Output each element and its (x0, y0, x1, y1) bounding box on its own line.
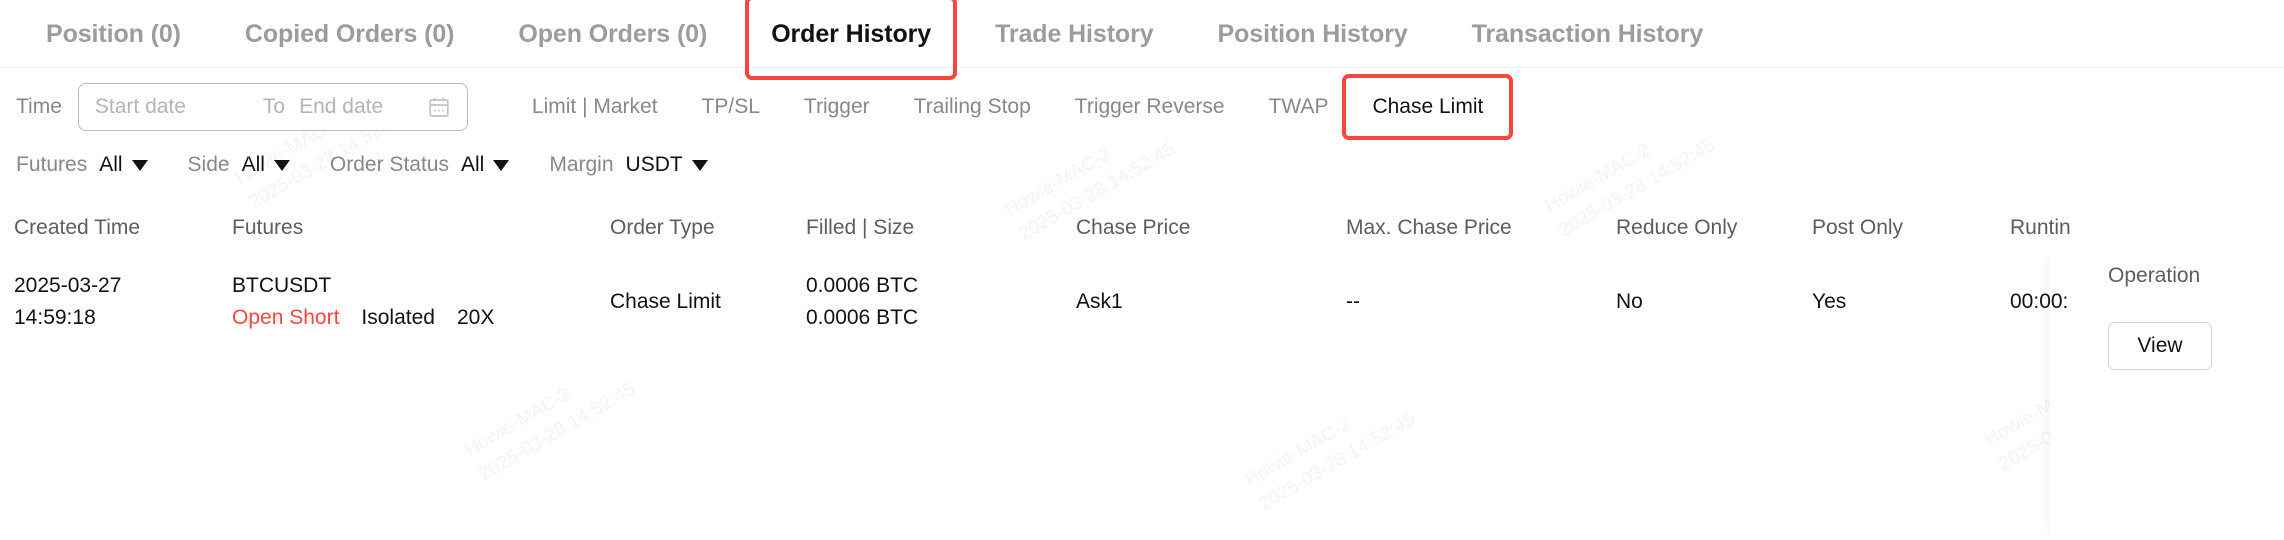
margin-filter-value: USDT (626, 153, 683, 177)
order-status-filter: Order Status All (330, 153, 537, 177)
tab-copied-orders[interactable]: Copied Orders (0) (213, 0, 486, 68)
order-history-table-wrap: Created Time Futures Order Type Filled |… (0, 202, 2284, 348)
column-header-filled-size: Filled | Size (806, 202, 1076, 256)
order-type-trigger[interactable]: Trigger (782, 83, 892, 131)
order-status-filter-select[interactable]: All (461, 153, 509, 177)
order-status-filter-label: Order Status (330, 153, 449, 177)
side-filter-label: Side (188, 153, 230, 177)
time-filter-label: Time (16, 95, 62, 119)
chevron-down-icon (132, 160, 148, 171)
order-tabs: Position (0) Copied Orders (0) Open Orde… (0, 0, 2284, 68)
futures-filter-select[interactable]: All (99, 153, 147, 177)
order-type-trigger-reverse[interactable]: Trigger Reverse (1053, 83, 1247, 131)
calendar-icon (427, 95, 451, 119)
cell-futures: BTCUSDT Open Short Isolated 20X (232, 256, 610, 348)
watermark-line-2: 2025-03-28 14:52:45 (475, 378, 638, 484)
tab-trade-history[interactable]: Trade History (963, 0, 1185, 68)
order-status-filter-value: All (461, 153, 484, 177)
tab-transaction-history[interactable]: Transaction History (1440, 0, 1736, 68)
chevron-down-icon (493, 160, 509, 171)
column-header-chase-price: Chase Price (1076, 202, 1346, 256)
table-body: 2025-03-27 14:59:18 BTCUSDT Open Short I… (0, 256, 2284, 348)
order-type-tpsl[interactable]: TP/SL (680, 83, 782, 131)
end-date-input[interactable]: End date (299, 95, 427, 119)
futures-filter-label: Futures (16, 153, 87, 177)
futures-symbol: BTCUSDT (232, 274, 610, 298)
margin-filter-select[interactable]: USDT (626, 153, 708, 177)
futures-filter: Futures All (16, 153, 176, 177)
margin-filter: Margin USDT (549, 153, 735, 177)
chevron-down-icon (274, 160, 290, 171)
order-history-panel: Howie-MAC-22025-03-28 14:52:45 Howie-MAC… (0, 0, 2284, 540)
chevron-down-icon (692, 160, 708, 171)
created-date: 2025-03-27 (14, 274, 232, 298)
tab-order-history[interactable]: Order History (739, 0, 963, 68)
watermark-line-2: 2025-03-28 14:52:45 (1255, 408, 1418, 514)
side-filter-value: All (242, 153, 265, 177)
cell-order-type: Chase Limit (610, 256, 806, 348)
futures-meta: Open Short Isolated 20X (232, 306, 610, 330)
order-type-limit-market[interactable]: Limit | Market (510, 83, 680, 131)
futures-filter-value: All (99, 153, 122, 177)
side-filter: Side All (188, 153, 318, 177)
column-header-order-type: Order Type (610, 202, 806, 256)
column-header-operation-spacer (2226, 202, 2284, 256)
side-filter-select[interactable]: All (242, 153, 290, 177)
order-type-filter-group: Limit | Market TP/SL Trigger Trailing St… (510, 83, 1505, 131)
column-header-runtime: Runtin (2010, 202, 2226, 256)
column-header-reduce-only: Reduce Only (1616, 202, 1812, 256)
cell-max-chase-price: -- (1346, 256, 1616, 348)
order-type-twap[interactable]: TWAP (1247, 83, 1351, 131)
order-side: Open Short (232, 306, 339, 330)
cell-filled-size: 0.0006 BTC 0.0006 BTC (806, 256, 1076, 348)
cell-chase-price: Ask1 (1076, 256, 1346, 348)
order-history-table: Created Time Futures Order Type Filled |… (0, 202, 2284, 348)
filter-row-dropdowns: Futures All Side All Order Status All Ma… (0, 130, 2284, 186)
size-amount: 0.0006 BTC (806, 306, 1076, 330)
table-header: Created Time Futures Order Type Filled |… (0, 202, 2284, 256)
date-range-to-label: To (263, 95, 285, 119)
order-type-chase-limit[interactable]: Chase Limit (1350, 83, 1505, 131)
watermark-line-1: Howie-MAC-2 (1242, 413, 1355, 490)
table-header-row: Created Time Futures Order Type Filled |… (0, 202, 2284, 256)
start-date-input[interactable]: Start date (95, 95, 263, 119)
margin-filter-label: Margin (549, 153, 613, 177)
filter-row-time: Time Start date To End date Limit | Mark… (0, 68, 2284, 130)
cell-reduce-only: No (1616, 256, 1812, 348)
cell-created-time: 2025-03-27 14:59:18 (0, 256, 232, 348)
margin-mode: Isolated (361, 306, 435, 330)
tab-open-orders[interactable]: Open Orders (0) (486, 0, 739, 68)
cell-post-only: Yes (1812, 256, 2010, 348)
column-header-max-chase-price: Max. Chase Price (1346, 202, 1616, 256)
filled-amount: 0.0006 BTC (806, 274, 1076, 298)
table-row: 2025-03-27 14:59:18 BTCUSDT Open Short I… (0, 256, 2284, 348)
date-range-picker[interactable]: Start date To End date (78, 83, 468, 131)
tab-position[interactable]: Position (0) (14, 0, 213, 68)
order-type-trailing-stop[interactable]: Trailing Stop (892, 83, 1053, 131)
cell-runtime: 00:00: (2010, 256, 2226, 348)
leverage: 20X (457, 306, 494, 330)
column-header-created-time: Created Time (0, 202, 232, 256)
column-header-futures: Futures (232, 202, 610, 256)
tab-position-history[interactable]: Position History (1186, 0, 1440, 68)
watermark-line-1: Howie-MAC-2 (462, 383, 575, 460)
cell-operation-spacer (2226, 256, 2284, 348)
created-clock: 14:59:18 (14, 306, 232, 330)
column-header-post-only: Post Only (1812, 202, 2010, 256)
